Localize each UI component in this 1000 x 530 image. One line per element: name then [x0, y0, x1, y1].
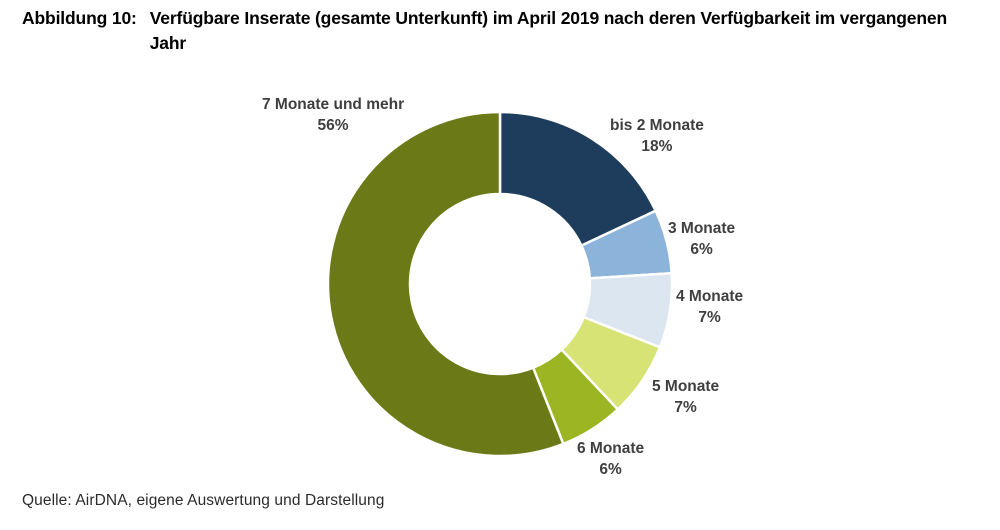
- slice-label-value: 56%: [262, 115, 404, 136]
- page-title: Abbildung 10: Verfügbare Inserate (gesam…: [22, 6, 972, 56]
- donut-chart-svg: [0, 62, 1000, 477]
- donut-slice-group: [328, 112, 672, 456]
- figure-title-text: Verfügbare Inserate (gesamte Unterkunft)…: [150, 6, 972, 56]
- slice-label-name: 7 Monate und mehr: [262, 96, 404, 113]
- slice-label-name: bis 2 Monate: [610, 117, 704, 134]
- slice-label-6-monate: 6 Monate 6%: [577, 438, 644, 480]
- slice-label-5-monate: 5 Monate 7%: [652, 376, 719, 418]
- slice-label-name: 3 Monate: [668, 220, 735, 237]
- figure-number: Abbildung 10:: [22, 6, 150, 31]
- slice-label-name: 5 Monate: [652, 378, 719, 395]
- slice-label-value: 7%: [676, 307, 743, 328]
- slice-label-3-monate: 3 Monate 6%: [668, 218, 735, 260]
- slice-label-value: 18%: [610, 136, 704, 157]
- slice-label-value: 7%: [652, 397, 719, 418]
- slice-label-name: 4 Monate: [676, 288, 743, 305]
- slice-label-value: 6%: [577, 459, 644, 480]
- slice-label-bis-2-monate: bis 2 Monate 18%: [610, 115, 704, 157]
- donut-chart: 7 Monate und mehr 56% bis 2 Monate 18% 3…: [0, 62, 1000, 477]
- slice-label-4-monate: 4 Monate 7%: [676, 286, 743, 328]
- slice-label-value: 6%: [668, 239, 735, 260]
- slice-label-7-monate-und-mehr: 7 Monate und mehr 56%: [262, 94, 404, 136]
- slice-label-name: 6 Monate: [577, 440, 644, 457]
- source-note: Quelle: AirDNA, eigene Auswertung und Da…: [22, 492, 384, 510]
